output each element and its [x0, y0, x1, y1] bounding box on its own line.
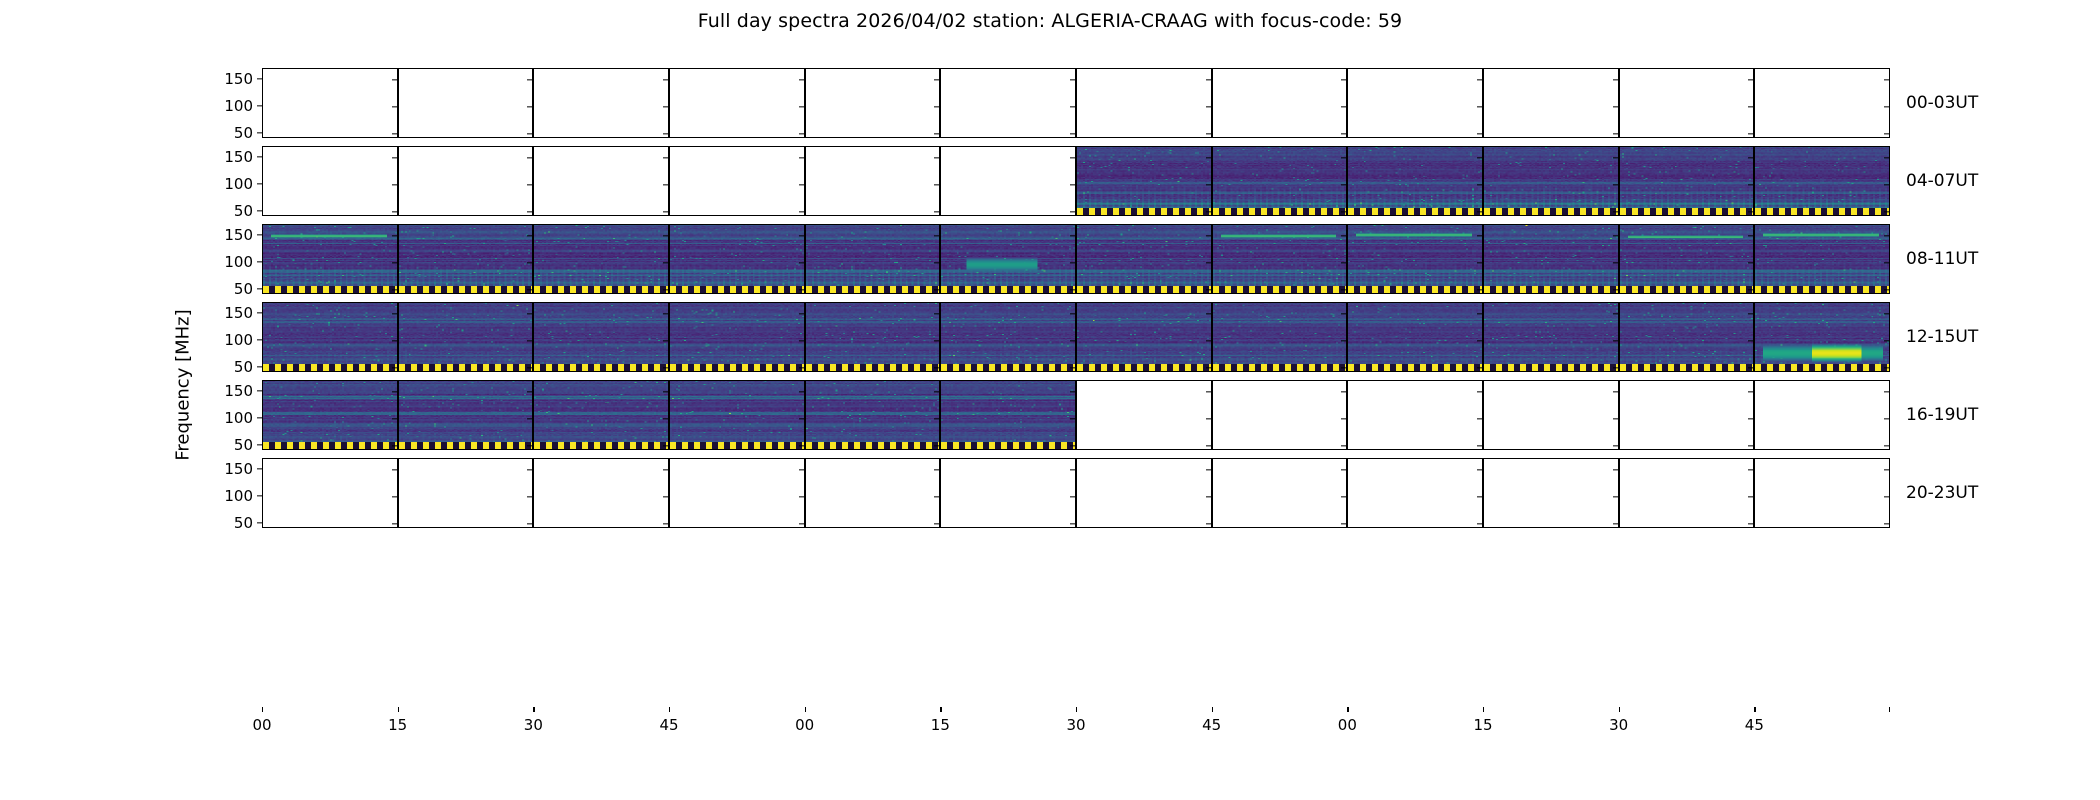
y-tick-mark [934, 157, 939, 158]
spectrogram-image [263, 381, 397, 449]
spectrogram-panel[interactable] [805, 146, 941, 216]
y-tick-mark [934, 211, 939, 212]
spectrogram-panel[interactable] [669, 458, 805, 528]
spectrogram-panel[interactable] [262, 380, 398, 450]
baseline-dashed-marker [1755, 208, 1889, 215]
spectrogram-panel[interactable] [669, 380, 805, 450]
y-tick-mark [1477, 340, 1482, 341]
spectrogram-image [1755, 147, 1889, 215]
spectrogram-panel[interactable] [398, 380, 534, 450]
x-tick-label: 15 [1473, 716, 1492, 734]
spectrogram-panel[interactable] [1483, 146, 1619, 216]
y-tick-mark [1341, 106, 1346, 107]
baseline-dashed-marker [1213, 364, 1347, 371]
baseline-dashed-marker [1484, 364, 1618, 371]
spectrogram-panel[interactable] [1076, 224, 1212, 294]
spectrogram-canvas [1620, 225, 1754, 293]
baseline-dashed-marker [1077, 286, 1211, 293]
baseline-dashed-marker [806, 286, 940, 293]
y-tick-mark [392, 469, 397, 470]
baseline-dashed-marker [1077, 364, 1211, 371]
y-tick-mark [1884, 469, 1889, 470]
spectrogram-image [806, 303, 940, 371]
y-tick-mark [1070, 262, 1075, 263]
y-tick-mark [1748, 79, 1753, 80]
panel-row-cells [262, 224, 1890, 294]
y-axis-label: Frequency [MHz] [173, 309, 194, 460]
x-tick-label: 15 [388, 716, 407, 734]
spectrogram-panel[interactable] [1347, 68, 1483, 138]
y-tick-mark [663, 184, 668, 185]
y-tick-mark [257, 183, 262, 184]
y-tick-mark [1748, 184, 1753, 185]
baseline-dashed-marker [1348, 364, 1482, 371]
baseline-dashed-marker [399, 364, 533, 371]
y-tick-mark [799, 469, 804, 470]
y-tick-mark [934, 106, 939, 107]
y-tick-mark [1070, 211, 1075, 212]
spectrogram-panel[interactable] [940, 224, 1076, 294]
spectrogram-canvas [534, 225, 668, 293]
spectrogram-panel[interactable] [1076, 302, 1212, 372]
y-tick-mark [1477, 418, 1482, 419]
y-tick-mark [392, 445, 397, 446]
spectrogram-canvas [1484, 303, 1618, 371]
spectrogram-canvas [1213, 147, 1347, 215]
x-tick-label: 00 [252, 716, 271, 734]
y-tick-mark [392, 418, 397, 419]
spectrogram-panel[interactable] [805, 302, 941, 372]
y-tick-mark [1206, 211, 1211, 212]
y-tick-mark [663, 289, 668, 290]
spectrogram-canvas [399, 225, 533, 293]
x-tick-label: 45 [1202, 716, 1221, 734]
spectrogram-panel[interactable] [1347, 224, 1483, 294]
y-tick-mark [934, 469, 939, 470]
spectrogram-panel[interactable] [1619, 458, 1755, 528]
spectrogram-image [670, 225, 804, 293]
spectrogram-image [1620, 147, 1754, 215]
spectrogram-canvas [399, 381, 533, 449]
baseline-dashed-marker [263, 286, 397, 293]
y-tick-mark [392, 211, 397, 212]
spectrogram-panel[interactable] [398, 458, 534, 528]
spectrogram-panel[interactable] [805, 458, 941, 528]
y-tick-mark [1206, 133, 1211, 134]
y-tick-mark [1477, 391, 1482, 392]
spectrogram-panel[interactable] [1212, 458, 1348, 528]
spectrogram-image [1484, 147, 1618, 215]
spectrogram-image [399, 225, 533, 293]
spectrogram-image [1755, 303, 1889, 371]
y-tick-mark [257, 156, 262, 157]
spectrogram-panel[interactable] [398, 68, 534, 138]
y-tick-mark [799, 340, 804, 341]
y-tick-mark [527, 262, 532, 263]
spectrogram-panel[interactable] [1754, 380, 1890, 450]
spectrogram-panel[interactable] [533, 146, 669, 216]
spectrogram-panel[interactable] [669, 68, 805, 138]
baseline-dashed-marker [1213, 208, 1347, 215]
spectrogram-panel[interactable] [1619, 146, 1755, 216]
spectrogram-panel[interactable] [533, 224, 669, 294]
y-tick-mark [527, 418, 532, 419]
spectrogram-panel[interactable] [1754, 68, 1890, 138]
y-tick-mark [527, 391, 532, 392]
y-tick-mark [257, 210, 262, 211]
baseline-dashed-marker [534, 442, 668, 449]
y-tick-mark [663, 496, 668, 497]
baseline-dashed-marker [534, 364, 668, 371]
spectrogram-panel[interactable] [1619, 302, 1755, 372]
panel-row-cells [262, 68, 1890, 138]
y-tick-mark [392, 313, 397, 314]
spectrogram-canvas [806, 381, 940, 449]
baseline-dashed-marker [263, 364, 397, 371]
spectrogram-image [263, 303, 397, 371]
spectrogram-panel[interactable] [940, 380, 1076, 450]
panel-row-cells [262, 146, 1890, 216]
y-tick-mark [663, 79, 668, 80]
y-tick-mark [1070, 235, 1075, 236]
y-tick-mark [527, 367, 532, 368]
spectrogram-panel[interactable] [1347, 380, 1483, 450]
y-tick-mark [1070, 367, 1075, 368]
spectrogram-panel[interactable] [262, 68, 398, 138]
y-tick-mark [257, 417, 262, 418]
spectrogram-panel[interactable] [1619, 380, 1755, 450]
baseline-dashed-marker [263, 442, 397, 449]
spectrogram-panel[interactable] [533, 380, 669, 450]
y-tick-mark [799, 289, 804, 290]
spectrogram-panel[interactable] [533, 458, 669, 528]
y-tick-mark [1341, 418, 1346, 419]
y-tick-mark [1613, 523, 1618, 524]
x-tick-mark [1619, 707, 1620, 712]
baseline-dashed-marker [534, 286, 668, 293]
y-tick-mark [663, 340, 668, 341]
y-tick-mark [1613, 184, 1618, 185]
panel-row-16-19ut: 15010050 [262, 380, 1890, 450]
baseline-dashed-marker [670, 364, 804, 371]
y-tick-mark [392, 262, 397, 263]
y-tick-mark [1748, 445, 1753, 446]
spectrogram-panel[interactable] [1212, 380, 1348, 450]
spectrogram-panel[interactable] [669, 302, 805, 372]
x-tick-label: 30 [1066, 716, 1085, 734]
spectrogram-panel[interactable] [262, 302, 398, 372]
spectrogram-panel[interactable] [805, 380, 941, 450]
y-tick-mark [799, 184, 804, 185]
y-tick-mark [257, 468, 262, 469]
y-tick-mark [1341, 523, 1346, 524]
y-tick-mark [1884, 106, 1889, 107]
spectrogram-canvas [941, 303, 1075, 371]
spectrogram-panel[interactable] [1483, 68, 1619, 138]
spectrogram-panel[interactable] [533, 68, 669, 138]
panel-row-04-07ut: 15010050 [262, 146, 1890, 216]
spectrogram-image [1348, 303, 1482, 371]
y-tick-mark [1477, 313, 1482, 314]
y-tick-mark [1206, 313, 1211, 314]
y-tick-mark [257, 234, 262, 235]
baseline-dashed-marker [1755, 286, 1889, 293]
y-tick-mark [1748, 289, 1753, 290]
y-tick-mark [257, 522, 262, 523]
spectrogram-panel[interactable] [1076, 146, 1212, 216]
y-tick-mark [934, 340, 939, 341]
baseline-dashed-marker [1620, 208, 1754, 215]
spectrogram-image [399, 303, 533, 371]
y-tick-mark [257, 78, 262, 79]
y-tick-mark [1613, 157, 1618, 158]
spectrogram-panel[interactable] [398, 302, 534, 372]
y-tick-mark [799, 367, 804, 368]
row-time-label: 08-11UT [1906, 249, 1978, 269]
y-tick-mark [392, 367, 397, 368]
spectrogram-canvas [399, 303, 533, 371]
spectrogram-canvas [1077, 303, 1211, 371]
y-tick-mark [1206, 496, 1211, 497]
baseline-dashed-marker [670, 442, 804, 449]
spectrogram-canvas [1755, 225, 1889, 293]
y-tick-mark [799, 445, 804, 446]
y-tick-mark [1613, 106, 1618, 107]
spectrogram-panel[interactable] [1347, 146, 1483, 216]
y-tick-mark [1884, 289, 1889, 290]
y-tick-mark [527, 445, 532, 446]
spectrogram-panel[interactable] [1619, 68, 1755, 138]
y-tick-mark [1748, 133, 1753, 134]
y-tick-mark [1613, 235, 1618, 236]
y-tick-mark [663, 235, 668, 236]
y-tick-mark [1070, 289, 1075, 290]
row-time-label: 16-19UT [1906, 405, 1978, 425]
y-tick-mark [1884, 340, 1889, 341]
y-tick-mark [1341, 289, 1346, 290]
spectrogram-panel[interactable] [805, 224, 941, 294]
y-tick-mark [1341, 157, 1346, 158]
spectrogram-panel[interactable] [1347, 458, 1483, 528]
y-tick-mark [1748, 211, 1753, 212]
spectrogram-panel[interactable] [940, 302, 1076, 372]
y-tick-mark [1477, 133, 1482, 134]
x-tick-mark [940, 707, 941, 712]
spectrogram-image [941, 303, 1075, 371]
y-tick-mark [663, 418, 668, 419]
spectrogram-panel[interactable] [1347, 302, 1483, 372]
spectrogram-panel[interactable] [669, 146, 805, 216]
row-time-label: 20-23UT [1906, 483, 1978, 503]
spectrogram-panel[interactable] [669, 224, 805, 294]
spectrogram-canvas [941, 225, 1075, 293]
y-tick-mark [663, 262, 668, 263]
spectrogram-canvas [263, 225, 397, 293]
y-tick-mark [1070, 469, 1075, 470]
y-tick-mark [1613, 340, 1618, 341]
baseline-dashed-marker [1213, 286, 1347, 293]
y-tick-mark [1070, 340, 1075, 341]
panel-row-cells [262, 458, 1890, 528]
spectrogram-panel[interactable] [1212, 68, 1348, 138]
y-tick-mark [1070, 418, 1075, 419]
y-tick-mark [799, 106, 804, 107]
y-tick-mark [1884, 523, 1889, 524]
y-tick-mark [527, 523, 532, 524]
spectrogram-panel[interactable] [1754, 302, 1890, 372]
y-tick-mark [934, 496, 939, 497]
spectrogram-image [670, 303, 804, 371]
y-tick-mark [1341, 79, 1346, 80]
y-tick-mark [1477, 496, 1482, 497]
spectrogram-panel[interactable] [1619, 224, 1755, 294]
x-tick-label: 30 [524, 716, 543, 734]
spectrogram-panel[interactable] [940, 146, 1076, 216]
panel-row-20-23ut: 15010050 [262, 458, 1890, 528]
y-tick-mark [1884, 391, 1889, 392]
y-tick-mark [392, 106, 397, 107]
y-tick-mark [1070, 445, 1075, 446]
y-tick-mark [1341, 313, 1346, 314]
spectrogram-image [399, 381, 533, 449]
spectrogram-panel[interactable] [1076, 458, 1212, 528]
spectrogram-panel[interactable] [398, 224, 534, 294]
y-tick-mark [392, 340, 397, 341]
y-tick-mark [663, 391, 668, 392]
y-tick-mark [934, 133, 939, 134]
spectrogram-panel[interactable] [1483, 458, 1619, 528]
y-tick-mark [1884, 496, 1889, 497]
spectrogram-panel[interactable] [1754, 146, 1890, 216]
y-tick-mark [1206, 340, 1211, 341]
y-tick-mark [934, 184, 939, 185]
y-tick-mark [1070, 157, 1075, 158]
baseline-dashed-marker [1484, 208, 1618, 215]
x-tick-label: 00 [795, 716, 814, 734]
spectrogram-image [1213, 303, 1347, 371]
panel-row-12-15ut: 15010050 [262, 302, 1890, 372]
y-tick-mark [1477, 523, 1482, 524]
y-tick-mark [1884, 211, 1889, 212]
y-tick-mark [392, 496, 397, 497]
spectrogram-panel[interactable] [398, 146, 534, 216]
y-tick-mark [934, 418, 939, 419]
spectrogram-panel[interactable] [533, 302, 669, 372]
x-tick-mark [1076, 707, 1077, 712]
spectrogram-panel[interactable] [1483, 224, 1619, 294]
spectrogram-image [1620, 303, 1754, 371]
spectrogram-panel[interactable] [1754, 224, 1890, 294]
spectrogram-panel[interactable] [262, 146, 398, 216]
y-tick-mark [1341, 496, 1346, 497]
baseline-dashed-marker [1620, 286, 1754, 293]
y-tick-mark [1070, 184, 1075, 185]
x-tick-mark [805, 707, 806, 712]
y-tick-mark [799, 418, 804, 419]
y-tick-mark [257, 312, 262, 313]
spectrogram-panel[interactable] [1754, 458, 1890, 528]
baseline-dashed-marker [1348, 208, 1482, 215]
spectrogram-image [941, 381, 1075, 449]
x-tick-label: 30 [1609, 716, 1628, 734]
y-tick-mark [1613, 496, 1618, 497]
y-tick-mark [799, 262, 804, 263]
y-tick-mark [934, 79, 939, 80]
x-tick-mark [533, 707, 534, 712]
spectrogram-canvas [670, 225, 804, 293]
spectrogram-image [1348, 225, 1482, 293]
spectrogram-canvas [670, 381, 804, 449]
x-tick-label: 45 [1745, 716, 1764, 734]
y-tick-mark [1748, 367, 1753, 368]
y-tick-mark [663, 133, 668, 134]
y-tick-mark [1341, 391, 1346, 392]
spectrogram-panel[interactable] [1212, 224, 1348, 294]
y-tick-mark [1341, 445, 1346, 446]
y-tick-mark [1477, 469, 1482, 470]
spectrogram-canvas [263, 303, 397, 371]
spectrogram-image [941, 225, 1075, 293]
y-tick-mark [1884, 235, 1889, 236]
x-tick-mark [262, 707, 263, 712]
row-time-label: 00-03UT [1906, 93, 1978, 113]
spectrogram-canvas [263, 381, 397, 449]
x-tick-mark [669, 707, 670, 712]
spectrogram-panel[interactable] [262, 458, 398, 528]
spectrogram-panel[interactable] [1076, 68, 1212, 138]
y-tick-mark [1748, 313, 1753, 314]
spectrogram-canvas [1484, 225, 1618, 293]
y-tick-mark [1206, 445, 1211, 446]
spectrogram-image [1348, 147, 1482, 215]
y-tick-mark [392, 79, 397, 80]
spectrogram-panel[interactable] [940, 68, 1076, 138]
y-tick-mark [799, 157, 804, 158]
spectrogram-image [534, 225, 668, 293]
y-tick-mark [1884, 418, 1889, 419]
y-tick-mark [1070, 391, 1075, 392]
spectrogram-panel[interactable] [1212, 302, 1348, 372]
y-tick-mark [257, 444, 262, 445]
spectrogram-canvas [1620, 303, 1754, 371]
x-axis-ticks: 001530450015304500153045 [262, 707, 1890, 747]
y-tick-mark [1341, 133, 1346, 134]
spectrogram-panel[interactable] [1483, 380, 1619, 450]
spectrogram-panel[interactable] [940, 458, 1076, 528]
baseline-dashed-marker [806, 364, 940, 371]
spectrogram-canvas [534, 303, 668, 371]
y-tick-mark [1748, 262, 1753, 263]
spectrogram-image [1484, 303, 1618, 371]
spectrogram-panel[interactable] [805, 68, 941, 138]
spectrogram-panel[interactable] [262, 224, 398, 294]
baseline-dashed-marker [1077, 208, 1211, 215]
spectrogram-panel[interactable] [1212, 146, 1348, 216]
y-tick-mark [1748, 157, 1753, 158]
y-tick-mark [934, 289, 939, 290]
y-tick-mark [1341, 367, 1346, 368]
spectrogram-panel[interactable] [1483, 302, 1619, 372]
y-tick-mark [1748, 523, 1753, 524]
y-tick-mark [1613, 262, 1618, 263]
spectrogram-panel[interactable] [1076, 380, 1212, 450]
y-tick-mark [1206, 391, 1211, 392]
spectrogram-image [1620, 225, 1754, 293]
spectrogram-canvas [670, 303, 804, 371]
y-tick-mark [1884, 133, 1889, 134]
spectrogram-canvas [806, 225, 940, 293]
spectrogram-canvas [1077, 225, 1211, 293]
